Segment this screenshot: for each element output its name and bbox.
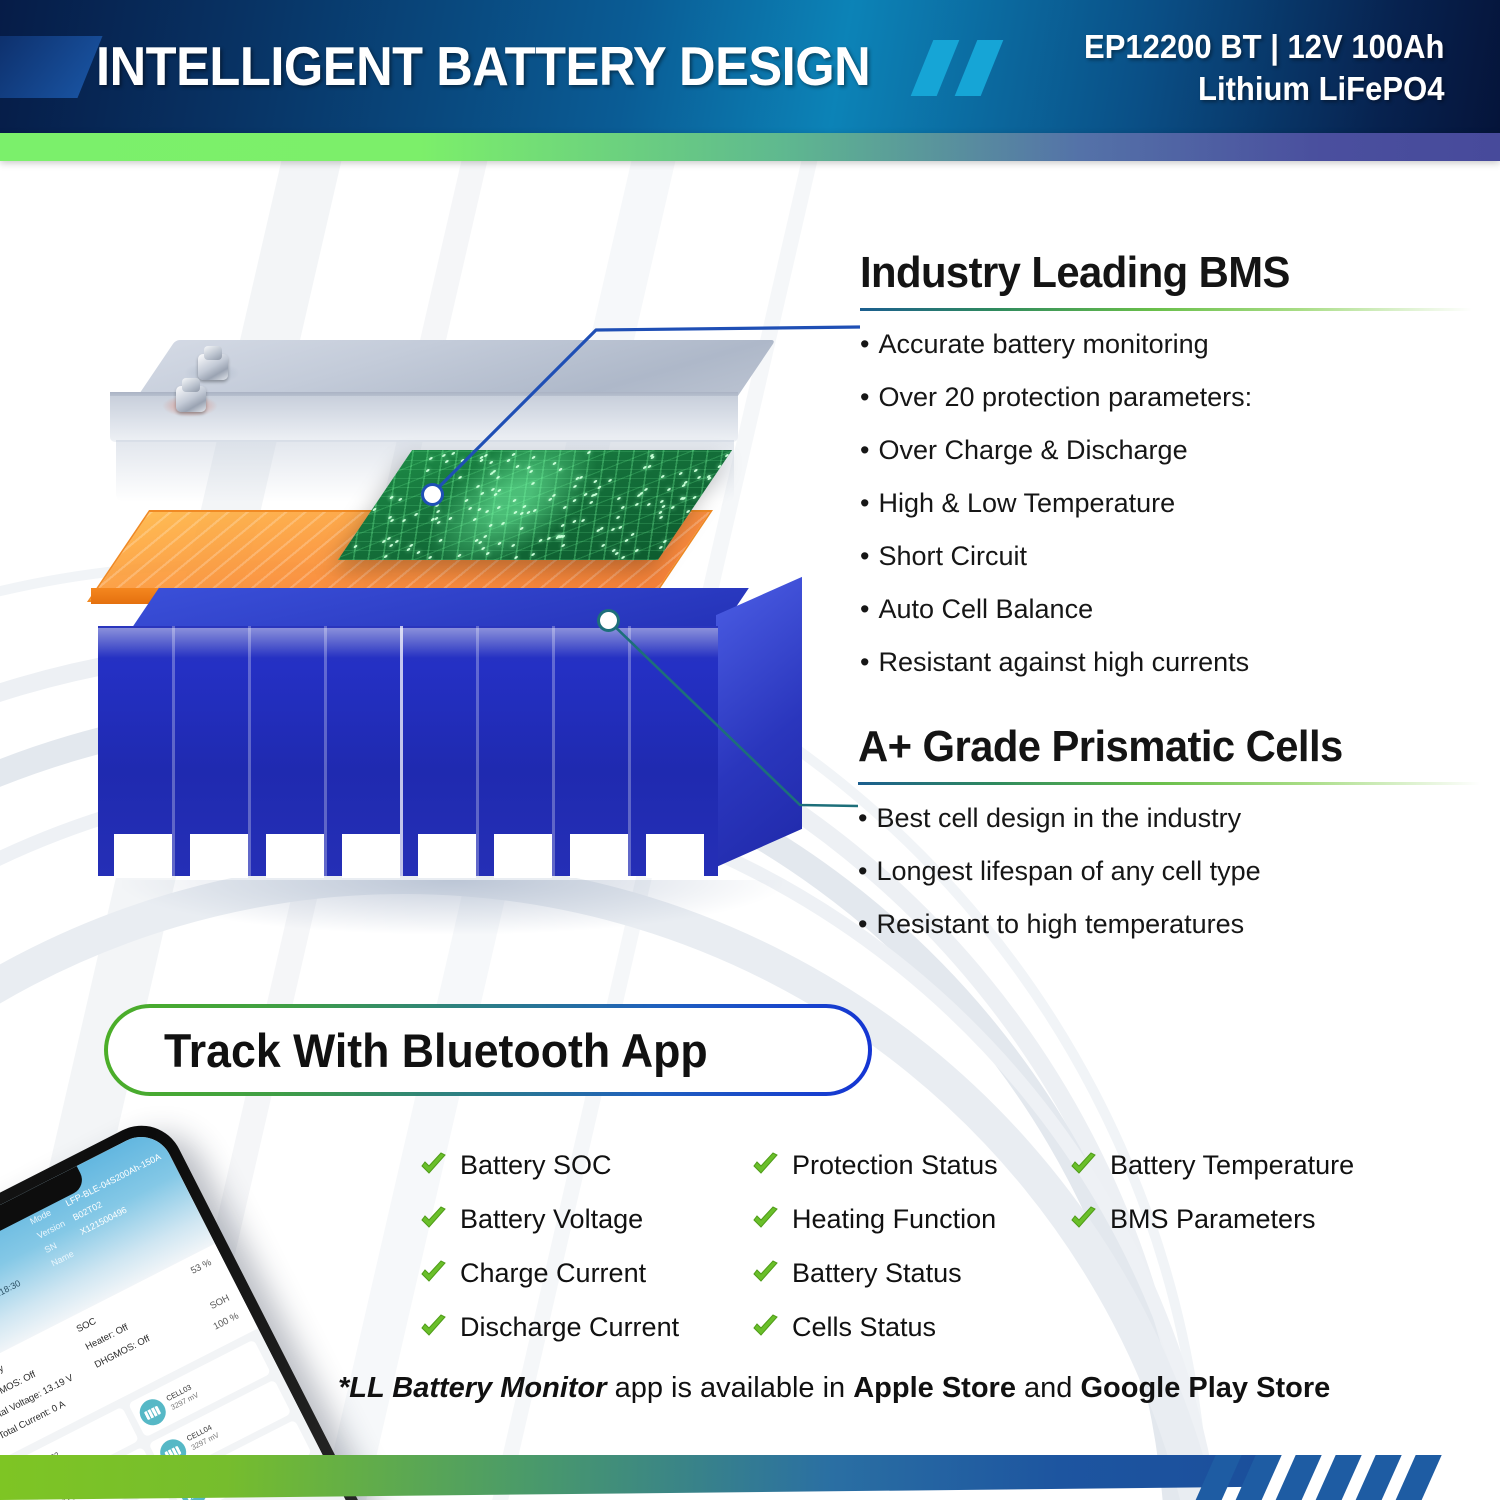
list-item-label: Charge Current bbox=[460, 1258, 646, 1288]
section-bms: Industry Leading BMS •Accurate battery m… bbox=[860, 248, 1472, 702]
list-item-label: High & Low Temperature bbox=[878, 488, 1175, 518]
page-footer-bar bbox=[0, 1455, 1500, 1500]
green-check-icon bbox=[418, 1150, 448, 1180]
bullet-icon: • bbox=[860, 329, 869, 359]
product-spec: EP12200 BT | 12V 100Ah Lithium LiFePO4 bbox=[1084, 26, 1444, 110]
green-check-icon bbox=[418, 1204, 448, 1234]
list-item-label: Battery SOC bbox=[460, 1150, 612, 1180]
green-check-icon bbox=[750, 1312, 780, 1342]
checklist-column-3: Battery Temperature BMS Parameters bbox=[1068, 1150, 1448, 1258]
page-header: INTELLIGENT BATTERY DESIGN EP12200 BT | … bbox=[0, 0, 1500, 133]
list-item: •High & Low Temperature bbox=[860, 490, 1472, 517]
terminal-negative bbox=[198, 354, 228, 380]
google-play-label: Google Play Store bbox=[1080, 1372, 1330, 1404]
bullet-icon: • bbox=[860, 488, 869, 518]
checklist-column-2: Protection Status Heating Function Batte… bbox=[750, 1150, 1070, 1366]
app-timestamp: 2022-12-21 15:18:30 bbox=[0, 1278, 22, 1325]
green-check-icon bbox=[1068, 1204, 1098, 1234]
header-green-strip bbox=[0, 133, 1500, 161]
app-store-note: *LL Battery Monitor app is available in … bbox=[338, 1372, 1330, 1405]
product-chemistry-line: Lithium LiFePO4 bbox=[1084, 68, 1444, 110]
list-item-label: Battery Voltage bbox=[460, 1204, 643, 1234]
app-name: *LL Battery Monitor bbox=[338, 1372, 607, 1404]
green-check-icon bbox=[750, 1258, 780, 1288]
list-item: Protection Status bbox=[750, 1150, 1070, 1180]
bullet-icon: • bbox=[858, 856, 867, 886]
bullet-icon: • bbox=[860, 541, 869, 571]
bullet-icon: • bbox=[860, 647, 869, 677]
infographic-page: INTELLIGENT BATTERY DESIGN EP12200 BT | … bbox=[0, 0, 1500, 1500]
list-item-label: Best cell design in the industry bbox=[876, 803, 1241, 833]
battery-case bbox=[110, 340, 750, 460]
list-item: Battery Status bbox=[750, 1258, 1070, 1288]
list-item-label: Cells Status bbox=[792, 1312, 936, 1342]
note-mid-2: and bbox=[1016, 1372, 1081, 1404]
note-mid-1: app is available in bbox=[607, 1372, 854, 1404]
list-item-label: Heating Function bbox=[792, 1204, 996, 1234]
list-item: •Over 20 protection parameters: bbox=[860, 384, 1472, 411]
header-parallelogram-accent bbox=[0, 36, 103, 98]
terminal-positive bbox=[176, 386, 206, 412]
list-item: Cells Status bbox=[750, 1312, 1070, 1342]
app-screen: 2022-12-21 15:18:30 ModeLFP-BLE-04S200Ah… bbox=[0, 1126, 399, 1500]
section-title: Industry Leading BMS bbox=[860, 248, 1441, 298]
list-item-label: Resistant to high temperatures bbox=[876, 909, 1244, 939]
green-check-icon bbox=[750, 1150, 780, 1180]
battery-illustration bbox=[70, 330, 860, 950]
list-item: •Longest lifespan of any cell type bbox=[858, 858, 1480, 885]
list-item-label: Accurate battery monitoring bbox=[878, 329, 1208, 359]
list-item: Battery SOC bbox=[418, 1150, 728, 1180]
list-item-label: Over Charge & Discharge bbox=[878, 435, 1187, 465]
green-check-icon bbox=[418, 1312, 448, 1342]
list-item: •Resistant against high currents bbox=[860, 649, 1472, 676]
list-item: •Accurate battery monitoring bbox=[860, 331, 1472, 358]
section-divider bbox=[860, 308, 1472, 311]
list-item: Charge Current bbox=[418, 1258, 728, 1288]
bullet-icon: • bbox=[860, 382, 869, 412]
section-cells: A+ Grade Prismatic Cells •Best cell desi… bbox=[858, 722, 1480, 964]
page-title: INTELLIGENT BATTERY DESIGN bbox=[96, 34, 870, 98]
list-item: •Resistant to high temperatures bbox=[858, 911, 1480, 938]
list-item: •Short Circuit bbox=[860, 543, 1472, 570]
list-item-label: Longest lifespan of any cell type bbox=[876, 856, 1260, 886]
list-item: •Auto Cell Balance bbox=[860, 596, 1472, 623]
section-title: A+ Grade Prismatic Cells bbox=[858, 722, 1449, 772]
list-item: Heating Function bbox=[750, 1204, 1070, 1234]
bms-callout-dot bbox=[424, 486, 441, 503]
bullet-icon: • bbox=[860, 435, 869, 465]
green-check-icon bbox=[750, 1204, 780, 1234]
list-item-label: Over 20 protection parameters: bbox=[878, 382, 1252, 412]
cells-callout-dot bbox=[600, 612, 617, 629]
list-item-label: Battery Temperature bbox=[1110, 1150, 1354, 1180]
bullet-icon: • bbox=[858, 803, 867, 833]
list-item-label: BMS Parameters bbox=[1110, 1204, 1316, 1234]
apple-store-label: Apple Store bbox=[853, 1372, 1016, 1404]
double-slash-icon bbox=[922, 40, 1042, 96]
footer-stripes-icon bbox=[1205, 1455, 1500, 1500]
list-item-label: Discharge Current bbox=[460, 1312, 679, 1342]
prismatic-cells-stack bbox=[98, 588, 798, 928]
list-item: Battery Temperature bbox=[1068, 1150, 1448, 1180]
list-item: BMS Parameters bbox=[1068, 1204, 1448, 1234]
section-divider bbox=[858, 782, 1480, 785]
bullet-list: •Best cell design in the industry •Longe… bbox=[858, 805, 1480, 938]
battery-icon bbox=[135, 1395, 170, 1430]
green-check-icon bbox=[418, 1258, 448, 1288]
device-info-table: ModeLFP-BLE-04S200Ah-150A VersionB02T02 … bbox=[27, 1150, 185, 1272]
product-model-line: EP12200 BT | 12V 100Ah bbox=[1084, 26, 1444, 68]
list-item-label: Auto Cell Balance bbox=[878, 594, 1093, 624]
bullet-list: •Accurate battery monitoring •Over 20 pr… bbox=[860, 331, 1472, 676]
list-item: •Best cell design in the industry bbox=[858, 805, 1480, 832]
list-item-label: Resistant against high currents bbox=[878, 647, 1249, 677]
bullet-icon: • bbox=[858, 909, 867, 939]
list-item-label: Short Circuit bbox=[878, 541, 1027, 571]
green-check-icon bbox=[1068, 1150, 1098, 1180]
list-item: Battery Voltage bbox=[418, 1204, 728, 1234]
bullet-icon: • bbox=[860, 594, 869, 624]
checklist-column-1: Battery SOC Battery Voltage Charge Curre… bbox=[418, 1150, 728, 1366]
list-item-label: Battery Status bbox=[792, 1258, 962, 1288]
list-item: Discharge Current bbox=[418, 1312, 728, 1342]
phone-mockup: 2022-12-21 15:18:30 ModeLFP-BLE-04S200Ah… bbox=[0, 1066, 444, 1500]
list-item-label: Protection Status bbox=[792, 1150, 998, 1180]
list-item: •Over Charge & Discharge bbox=[860, 437, 1472, 464]
